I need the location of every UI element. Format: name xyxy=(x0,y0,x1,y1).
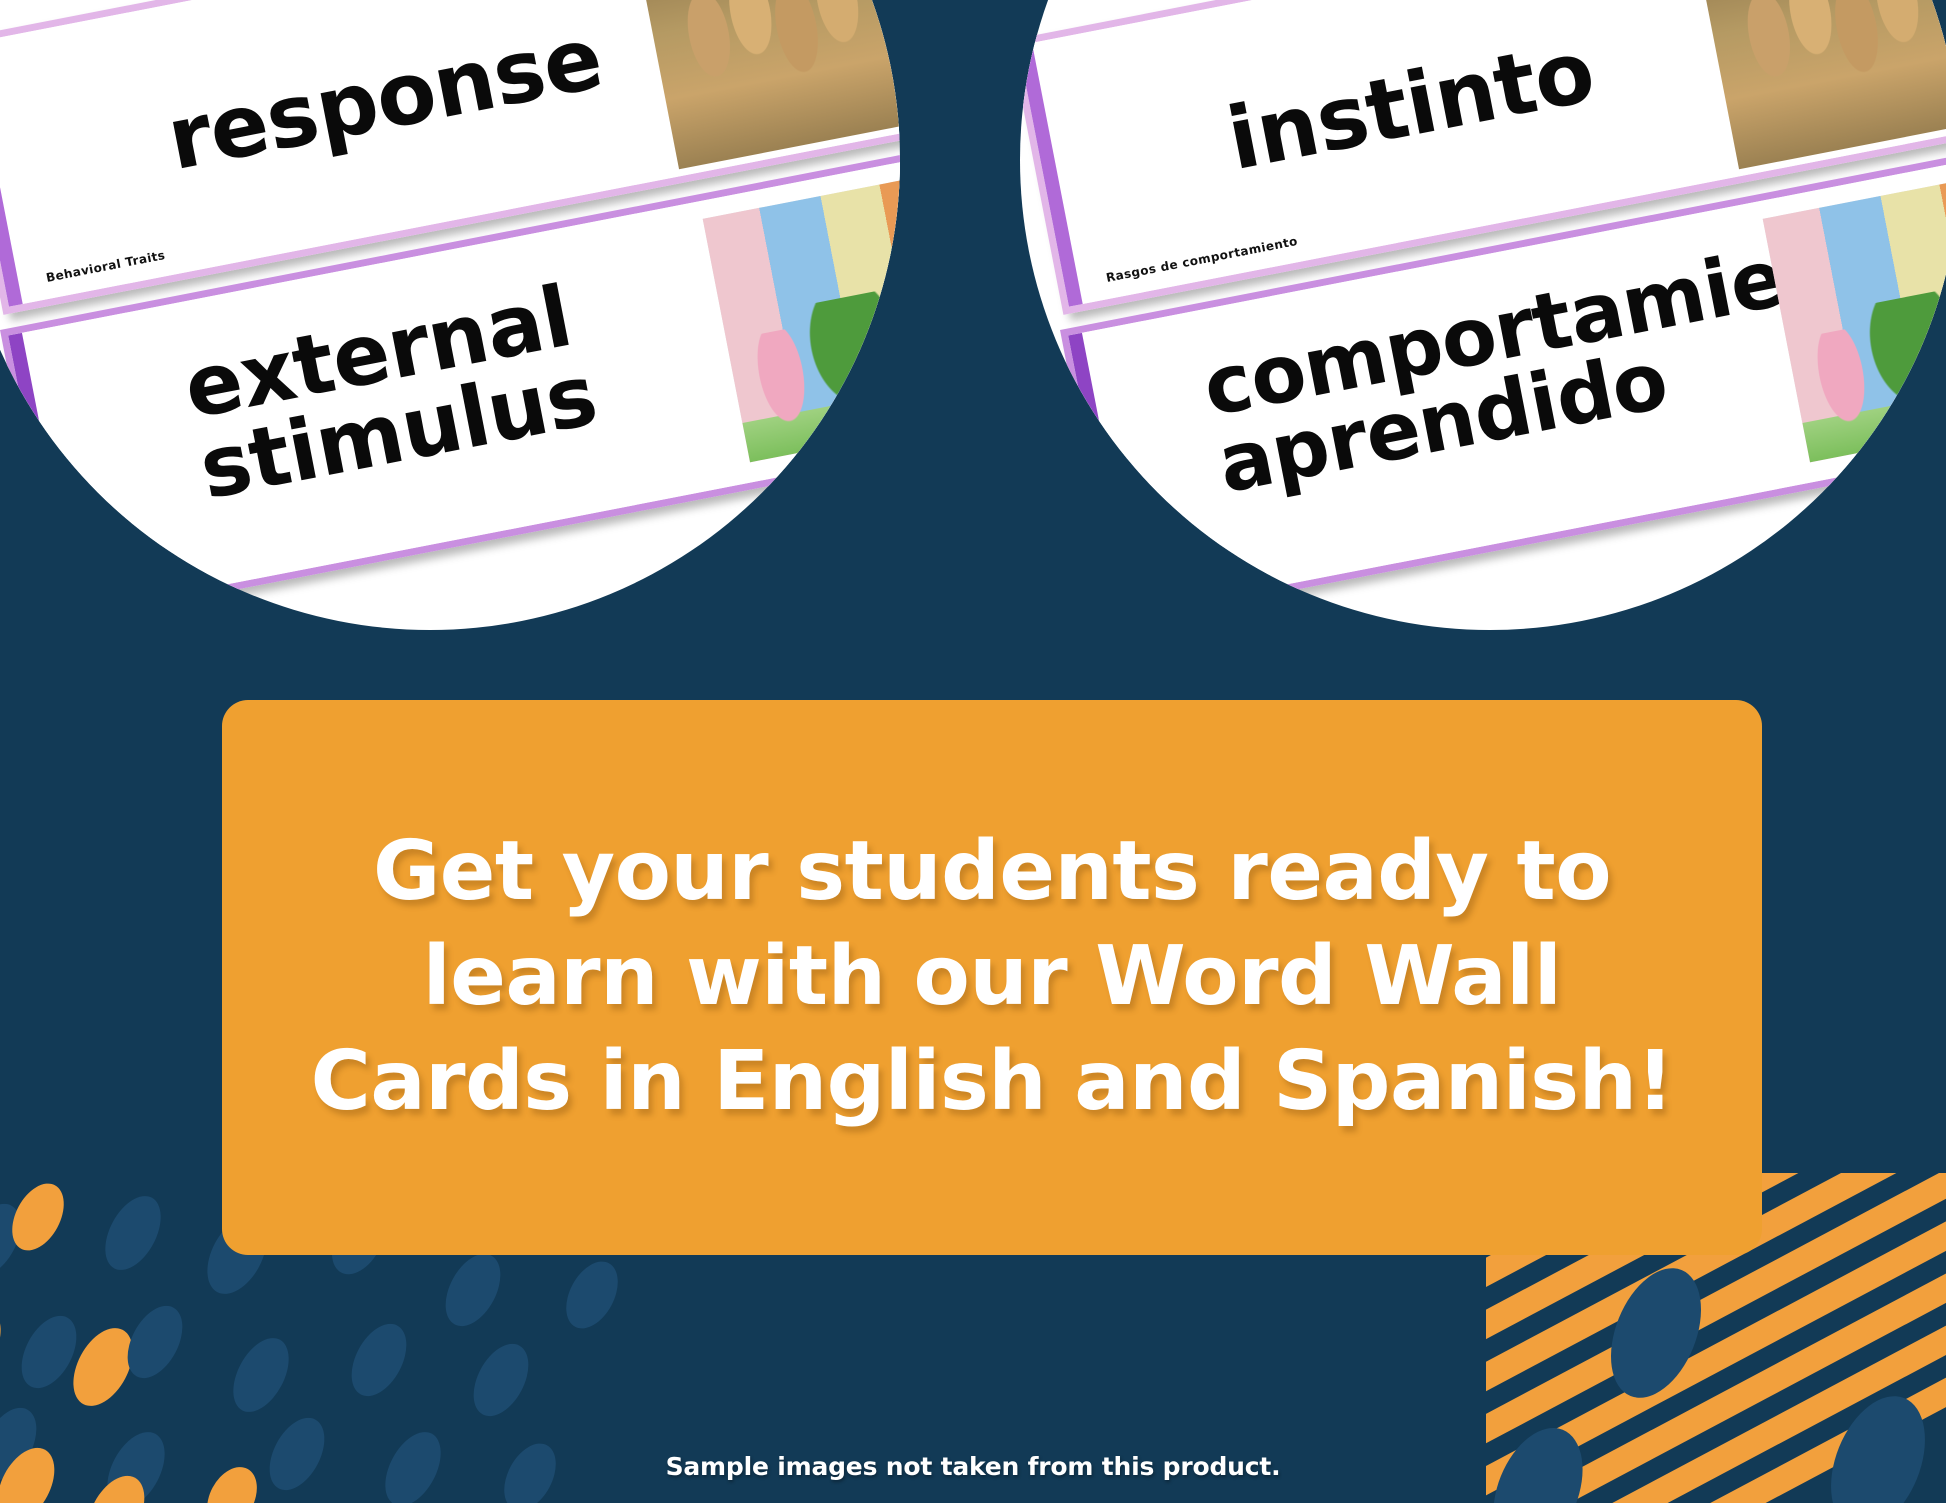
card-term: comportamiento aprendido xyxy=(1198,229,1856,505)
card-term: external stimulus xyxy=(178,248,730,511)
copyright-label: ©2024 Kesle xyxy=(863,145,900,154)
decor-dot xyxy=(434,1245,511,1335)
meerkats-photo xyxy=(634,0,900,169)
decor-dot xyxy=(462,1335,539,1425)
meerkats-photo xyxy=(1694,0,1946,169)
card-term: instinto xyxy=(1221,29,1600,182)
card-term: response xyxy=(161,16,608,183)
card-footer-label: Rasgos de comportamiento xyxy=(1105,234,1299,285)
card-footer-label: Behavioral Traits xyxy=(45,248,167,285)
headline-banner: Get your students ready to learn with ou… xyxy=(222,700,1762,1255)
decor-dot xyxy=(556,1253,629,1337)
promo-graphic: response Behavioral Traits external stim… xyxy=(0,0,1946,1503)
decor-dot xyxy=(340,1315,417,1405)
decor-dot xyxy=(1593,1255,1718,1411)
headline-text: Get your students ready to learn with ou… xyxy=(222,820,1762,1135)
disclaimer-note: Sample images not taken from this produc… xyxy=(0,1452,1946,1481)
english-cards-circle: response Behavioral Traits external stim… xyxy=(0,0,900,630)
decor-dot xyxy=(0,1299,12,1394)
four-seasons-photo xyxy=(703,171,900,462)
spanish-cards-circle: instinto Rasgos de comportamiento compor… xyxy=(1020,0,1946,630)
four-seasons-photo xyxy=(1763,171,1946,462)
decor-dot xyxy=(222,1329,300,1421)
decor-dot xyxy=(94,1187,172,1279)
